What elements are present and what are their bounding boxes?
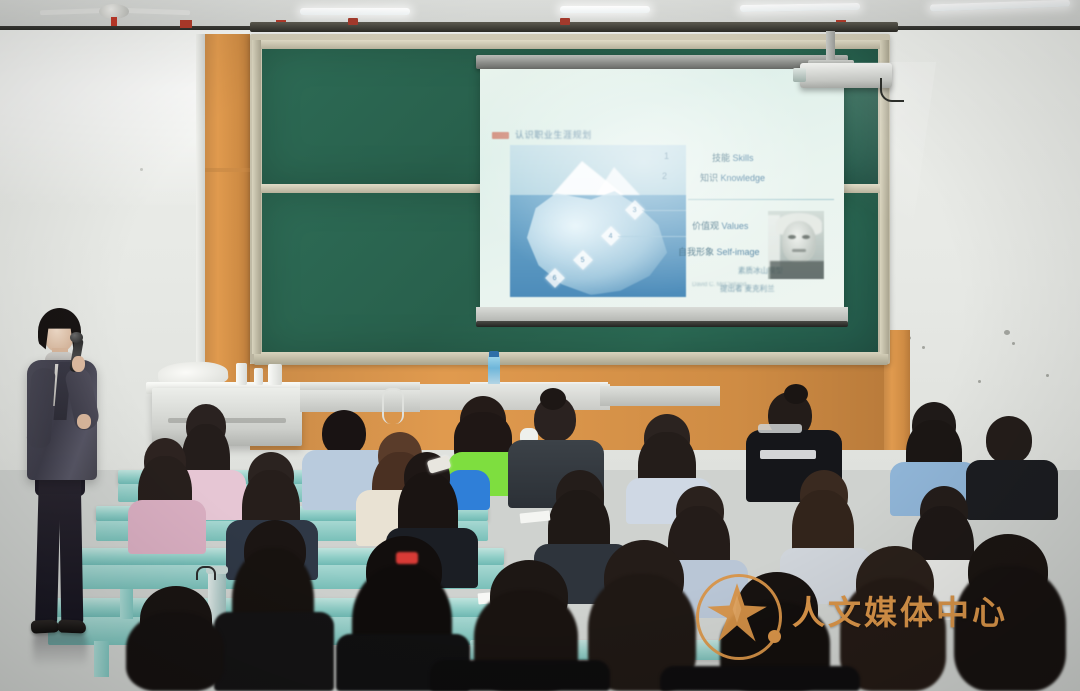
ceiling-fan-icon: [40, 0, 190, 26]
light-tube-2: [560, 6, 650, 13]
slide-item-knowledge-en: Knowledge: [721, 173, 766, 183]
paper-on-desk: [520, 510, 551, 523]
front-counter-right: [600, 386, 720, 406]
slide-portrait-image: [768, 211, 824, 279]
red-hair-accessory: [396, 552, 418, 564]
presenter-hand-upper: [72, 356, 85, 372]
desk-leg-2: [94, 641, 109, 677]
cup-2: [254, 368, 263, 385]
water-bottle-icon: [488, 356, 500, 386]
iceberg-graphic: 3 4 5 6: [510, 145, 686, 297]
student-torso-dark: [966, 460, 1058, 520]
student-head: [986, 416, 1032, 464]
tumbler-handle: [196, 566, 216, 580]
student-torso-front: [214, 612, 334, 691]
wall-speck: [978, 380, 981, 383]
projection-screen: 认识职业生涯规划 3 4 5 6 1 技能: [476, 55, 848, 328]
wall-speck: [140, 168, 143, 171]
blackboard-clip-1: [348, 18, 358, 25]
microphone-head: [70, 332, 83, 343]
water-bottle-cap: [489, 351, 499, 357]
slide-item-skills: 技能 Skills: [712, 151, 754, 164]
student-torso: [128, 500, 206, 554]
presenter-shoe-right: [58, 620, 86, 634]
slide-title-accent-bar: [492, 132, 509, 139]
blackboard-chalk-tray: [254, 352, 888, 365]
portrait-face: [782, 221, 816, 263]
slide-title: 认识职业生涯规划: [515, 128, 592, 141]
student-hair-bun: [540, 388, 566, 410]
blackboard-slider-left: [252, 40, 261, 354]
student-hair-front: [126, 612, 224, 691]
slide-credit: David C. McClelland: [692, 282, 746, 288]
box-on-podium: [268, 364, 282, 385]
beam-bracket-1: [180, 20, 192, 28]
wall-speck: [1046, 374, 1049, 377]
portrait-eye-left: [788, 235, 796, 239]
presenter-shoe-left: [31, 619, 60, 633]
student-hair-bun: [784, 384, 808, 404]
slide-item-values: 价值观 Values: [692, 219, 748, 232]
slide-item-values-en: Values: [722, 221, 749, 231]
iceberg-leader-4: [618, 236, 686, 237]
wood-pillar: [204, 34, 250, 382]
projector-icon: [800, 63, 892, 88]
projector-lens: [793, 68, 806, 82]
front-row-shoulders: [660, 666, 860, 691]
student-hair-front: [954, 566, 1066, 691]
podium: [152, 388, 302, 446]
front-counter: [420, 384, 610, 410]
projector-cable: [880, 78, 904, 102]
jacket-collar-stripe: [758, 424, 802, 433]
slide-item-knowledge: 知识 Knowledge: [700, 171, 765, 184]
screen-weight-bar: [476, 321, 848, 327]
portrait-mouth: [792, 249, 806, 252]
wall-speck: [1012, 342, 1015, 345]
portrait-body: [770, 261, 824, 279]
pillar-edge: [196, 34, 205, 382]
presenter-hand-lower: [77, 414, 91, 429]
front-row-shoulders: [430, 660, 610, 691]
lecture-hall-photo: 认识职业生涯规划 3 4 5 6 1 技能: [0, 0, 1080, 691]
wall-speck: [922, 346, 925, 349]
wall-speck: [1004, 330, 1010, 335]
slide-item-skills-en: Skills: [733, 153, 754, 163]
portrait-eye-right: [802, 235, 810, 239]
slide-waterline-divider: [688, 199, 834, 200]
floor-reflection: [33, 633, 87, 667]
slide-item-selfimage: 自我形象 Self-image: [678, 245, 760, 258]
cable-loop: [382, 388, 404, 424]
jacket-print-text: [760, 450, 816, 459]
blackboard-clip-2: [560, 18, 570, 25]
presenter-leg-left: [35, 472, 61, 625]
light-tube-1: [300, 8, 410, 15]
screen-canvas: 认识职业生涯规划 3 4 5 6 1 技能: [480, 69, 844, 314]
screen-roller-casing: [476, 55, 848, 69]
desk-leg-1: [120, 589, 133, 619]
slide-item-selfimage-cn: 自我形象: [678, 247, 714, 257]
slide-item-selfimage-en: Self-image: [717, 247, 760, 257]
slide-number-1: 1: [664, 151, 669, 161]
slide-number-2: 2: [662, 171, 667, 181]
iceberg-leader-3: [642, 210, 686, 211]
wood-pillar-seam: [204, 168, 250, 172]
blackboard-rail-top: [258, 40, 882, 49]
iceberg-tip-2: [596, 167, 640, 195]
presenter-leg-right: [59, 472, 84, 624]
slide-item-values-cn: 价值观: [692, 221, 719, 231]
presentation-slide: 认识职业生涯规划 3 4 5 6 1 技能: [480, 69, 844, 314]
slide-item-skills-cn: 技能: [712, 153, 730, 163]
slide-item-knowledge-cn: 知识: [700, 173, 718, 183]
cup-1: [236, 363, 247, 385]
